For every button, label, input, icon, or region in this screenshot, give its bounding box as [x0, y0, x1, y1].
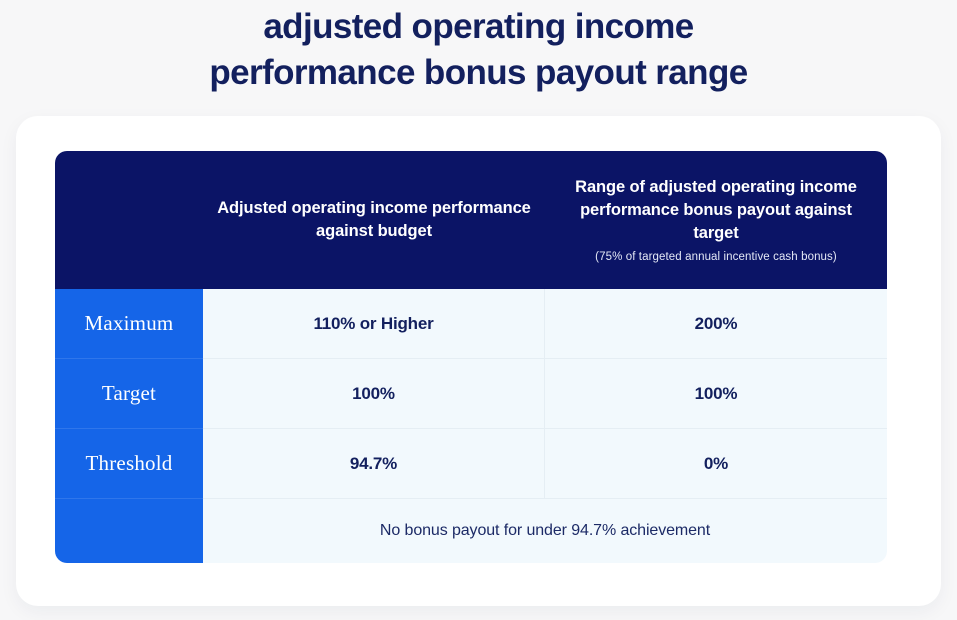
page-title-line-1: adjusted operating income [0, 4, 957, 50]
page-root: adjusted operating income performance bo… [0, 0, 957, 620]
table-body: Maximum 110% or Higher 200% Target 100% … [55, 289, 887, 563]
header-payout-note: (75% of targeted annual incentive cash b… [559, 250, 873, 265]
cell-maximum-performance: 110% or Higher [203, 289, 545, 359]
cell-target-payout: 100% [545, 359, 887, 429]
bonus-payout-table: Adjusted operating income performance ag… [55, 151, 887, 563]
header-cell-payout: Range of adjusted operating income perfo… [545, 151, 887, 289]
header-cell-label-column [55, 151, 203, 289]
cell-target-performance: 100% [203, 359, 545, 429]
footer-note: No bonus payout for under 94.7% achievem… [203, 499, 887, 563]
cell-threshold-payout: 0% [545, 429, 887, 499]
cell-threshold-performance: 94.7% [203, 429, 545, 499]
content-card: Adjusted operating income performance ag… [16, 116, 941, 606]
row-label-threshold: Threshold [55, 429, 203, 499]
row-label-target: Target [55, 359, 203, 429]
cell-maximum-payout: 200% [545, 289, 887, 359]
header-payout-text: Range of adjusted operating income perfo… [559, 176, 873, 245]
table-header-row: Adjusted operating income performance ag… [55, 151, 887, 289]
row-label-maximum: Maximum [55, 289, 203, 359]
footer-label-blank [55, 499, 203, 563]
table-row: Threshold 94.7% 0% [55, 429, 887, 499]
page-title: adjusted operating income performance bo… [0, 4, 957, 96]
table-row: Maximum 110% or Higher 200% [55, 289, 887, 359]
table-row: Target 100% 100% [55, 359, 887, 429]
table-footer-row: No bonus payout for under 94.7% achievem… [55, 499, 887, 563]
header-cell-performance: Adjusted operating income performance ag… [203, 151, 545, 289]
page-title-line-2: performance bonus payout range [0, 50, 957, 96]
table-header: Adjusted operating income performance ag… [55, 151, 887, 289]
header-performance-text: Adjusted operating income performance ag… [217, 197, 531, 243]
